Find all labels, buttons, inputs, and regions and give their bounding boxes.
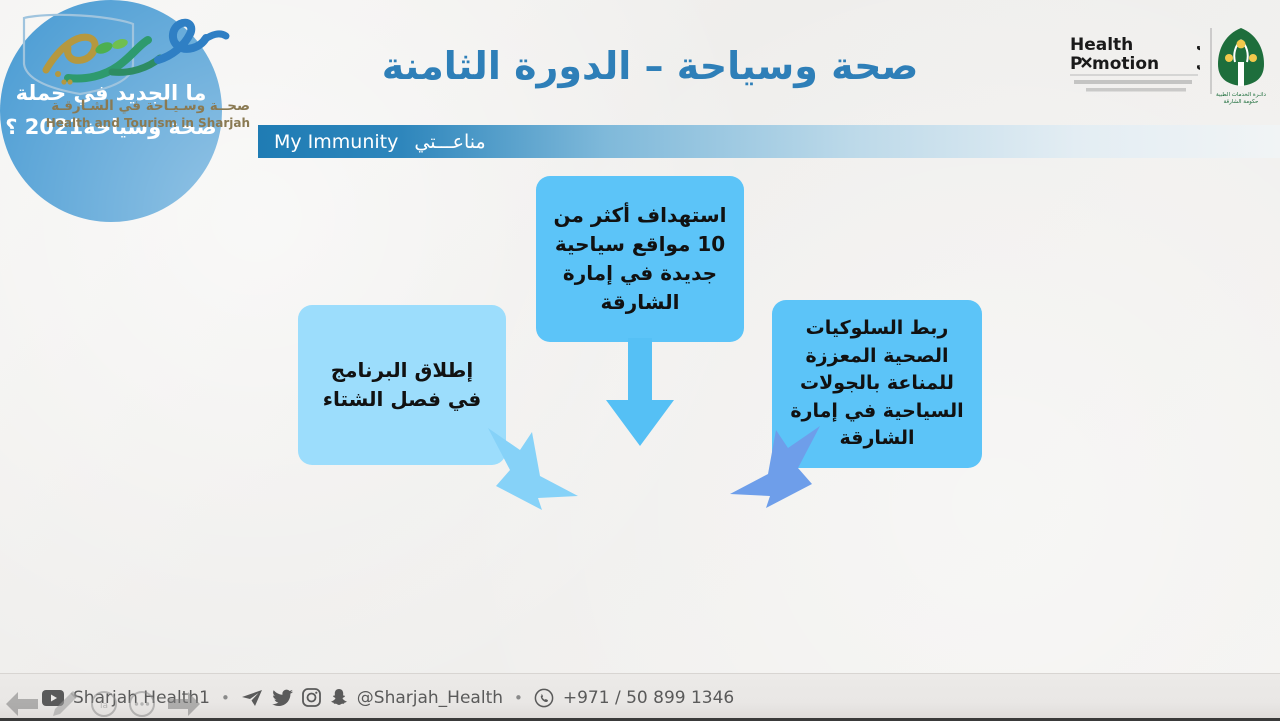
phone-number: +971 / 50 899 1346 [563, 688, 734, 708]
telegram-icon[interactable] [241, 689, 263, 707]
government-tree-icon: دائـرة الخدمات الطبية حكومة الشارقة [1210, 24, 1272, 108]
logo-english-tagline: Health and Tourism in Sharjah [46, 116, 250, 130]
logo-arabic-tagline: صحــة وسـيـاحة في الشـارقـة [51, 98, 250, 114]
previous-slide-arrow-icon[interactable] [4, 689, 40, 719]
footer-separator-2: • [512, 689, 525, 707]
arrow-down-left-icon [722, 418, 826, 510]
shield-calligraphy-icon [8, 12, 258, 98]
immunity-banner: My Immunity مناعـــتي [258, 125, 1280, 158]
presentation-slide: صحــة وسـيـاحة في الشـارقـة Health and T… [0, 0, 1280, 721]
footer-separator-1: • [219, 689, 232, 707]
health-promotion-logo-icon: Health P motion التثقيــف الصحي [1068, 28, 1200, 104]
next-slide-arrow-icon[interactable] [166, 689, 202, 719]
diagram-node-left: إطلاق البرنامج في فصل الشتاء [298, 305, 506, 465]
sharjah-health-tourism-logo: صحــة وسـيـاحة في الشـارقـة Health and T… [8, 12, 258, 140]
svg-text:motion: motion [1092, 54, 1159, 74]
svg-text:التثقيــف: التثقيــف [1196, 36, 1200, 54]
banner-english-label: My Immunity [274, 131, 398, 153]
svg-text:دائـرة الخدمات الطبية: دائـرة الخدمات الطبية [1216, 92, 1267, 98]
pen-icon[interactable] [50, 689, 80, 719]
sharjah-government-logo: دائـرة الخدمات الطبية حكومة الشارقة [1210, 24, 1272, 108]
instagram-icon[interactable] [302, 688, 321, 707]
laser-pointer-icon[interactable]: la [90, 690, 118, 718]
svg-text:حكومة الشارقة: حكومة الشارقة [1224, 98, 1259, 105]
page-title: صحة وسياحة – الدورة الثامنة [300, 44, 1000, 88]
arrow-down-icon [604, 338, 676, 448]
svg-text:Health: Health [1070, 35, 1133, 55]
health-promotion-logo: Health P motion التثقيــف الصحي [1068, 28, 1200, 104]
twitter-icon[interactable] [272, 689, 293, 707]
banner-arabic-label: مناعـــتي [414, 131, 485, 153]
snapchat-icon[interactable] [330, 688, 348, 707]
contact-footer: Sharjah Health1 • [0, 673, 1280, 721]
more-options-icon[interactable] [128, 690, 156, 718]
svg-text:la: la [100, 701, 108, 711]
diagram-node-top: استهداف أكثر من 10 مواقع سياحية جديدة في… [536, 176, 744, 342]
presenter-controls[interactable]: la [4, 689, 202, 719]
social-handle: @Sharjah_Health [357, 688, 503, 708]
svg-text:P: P [1070, 54, 1082, 74]
arrow-down-right-icon [482, 420, 586, 512]
whatsapp-icon[interactable] [534, 688, 554, 708]
svg-text:الصحي: الصحي [1196, 54, 1200, 72]
